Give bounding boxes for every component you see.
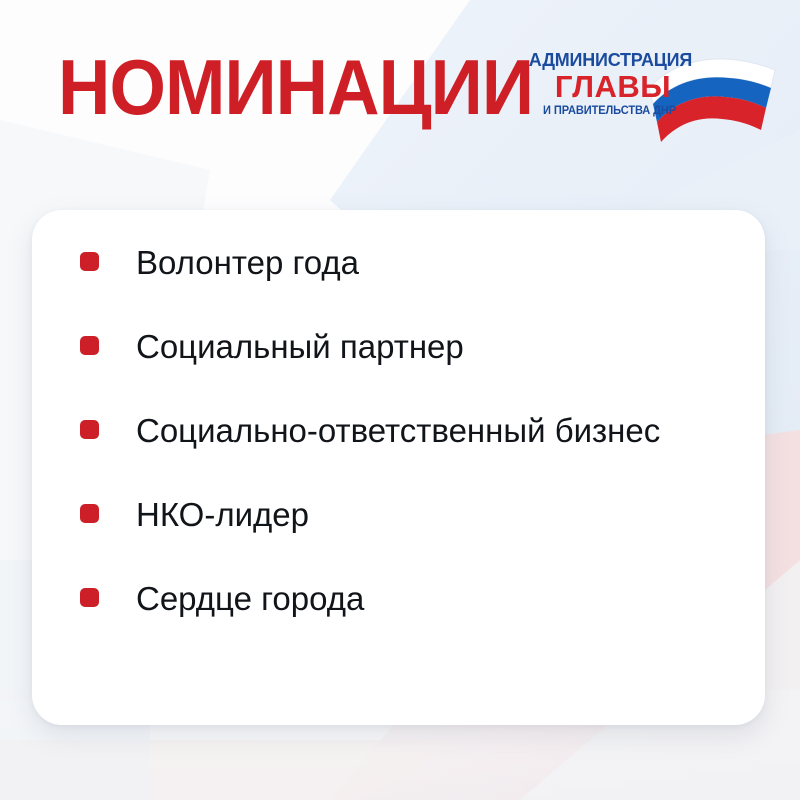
- nomination-label: Волонтер года: [136, 240, 359, 286]
- list-item: Волонтер года: [80, 240, 741, 286]
- nomination-label: НКО-лидер: [136, 492, 309, 538]
- bullet-square-icon: [80, 504, 99, 523]
- logo-text-block: АДМИНИСТРАЦИЯ ГЛАВЫ И ПРАВИТЕЛЬСТВА ДНР: [527, 50, 699, 118]
- logo-line-government: И ПРАВИТЕЛЬСТВА ДНР: [527, 105, 692, 118]
- list-item: Сердце города: [80, 576, 741, 622]
- nominations-card: Волонтер года Социальный партнер Социаль…: [32, 210, 765, 725]
- bullet-square-icon: [80, 252, 99, 271]
- organization-logo: АДМИНИСТРАЦИЯ ГЛАВЫ И ПРАВИТЕЛЬСТВА ДНР: [527, 50, 777, 155]
- page-title: НОМИНАЦИИ: [58, 44, 533, 130]
- nomination-label: Сердце города: [136, 576, 364, 622]
- nominations-list: Волонтер года Социальный партнер Социаль…: [80, 240, 741, 622]
- list-item: НКО-лидер: [80, 492, 741, 538]
- list-item: Социально-ответственный бизнес: [80, 408, 741, 454]
- bullet-square-icon: [80, 336, 99, 355]
- logo-line-head: ГЛАВЫ: [527, 71, 699, 103]
- poster-root: НОМИНАЦИИ АДМИНИСТРАЦИЯ ГЛАВЫ И ПРАВИТЕЛ…: [0, 0, 800, 800]
- bullet-square-icon: [80, 588, 99, 607]
- logo-line-administration: АДМИНИСТРАЦИЯ: [527, 50, 694, 70]
- nomination-label: Социально-ответственный бизнес: [136, 408, 660, 454]
- list-item: Социальный партнер: [80, 324, 741, 370]
- header: НОМИНАЦИИ АДМИНИСТРАЦИЯ ГЛАВЫ И ПРАВИТЕЛ…: [0, 0, 800, 200]
- bullet-square-icon: [80, 420, 99, 439]
- nomination-label: Социальный партнер: [136, 324, 464, 370]
